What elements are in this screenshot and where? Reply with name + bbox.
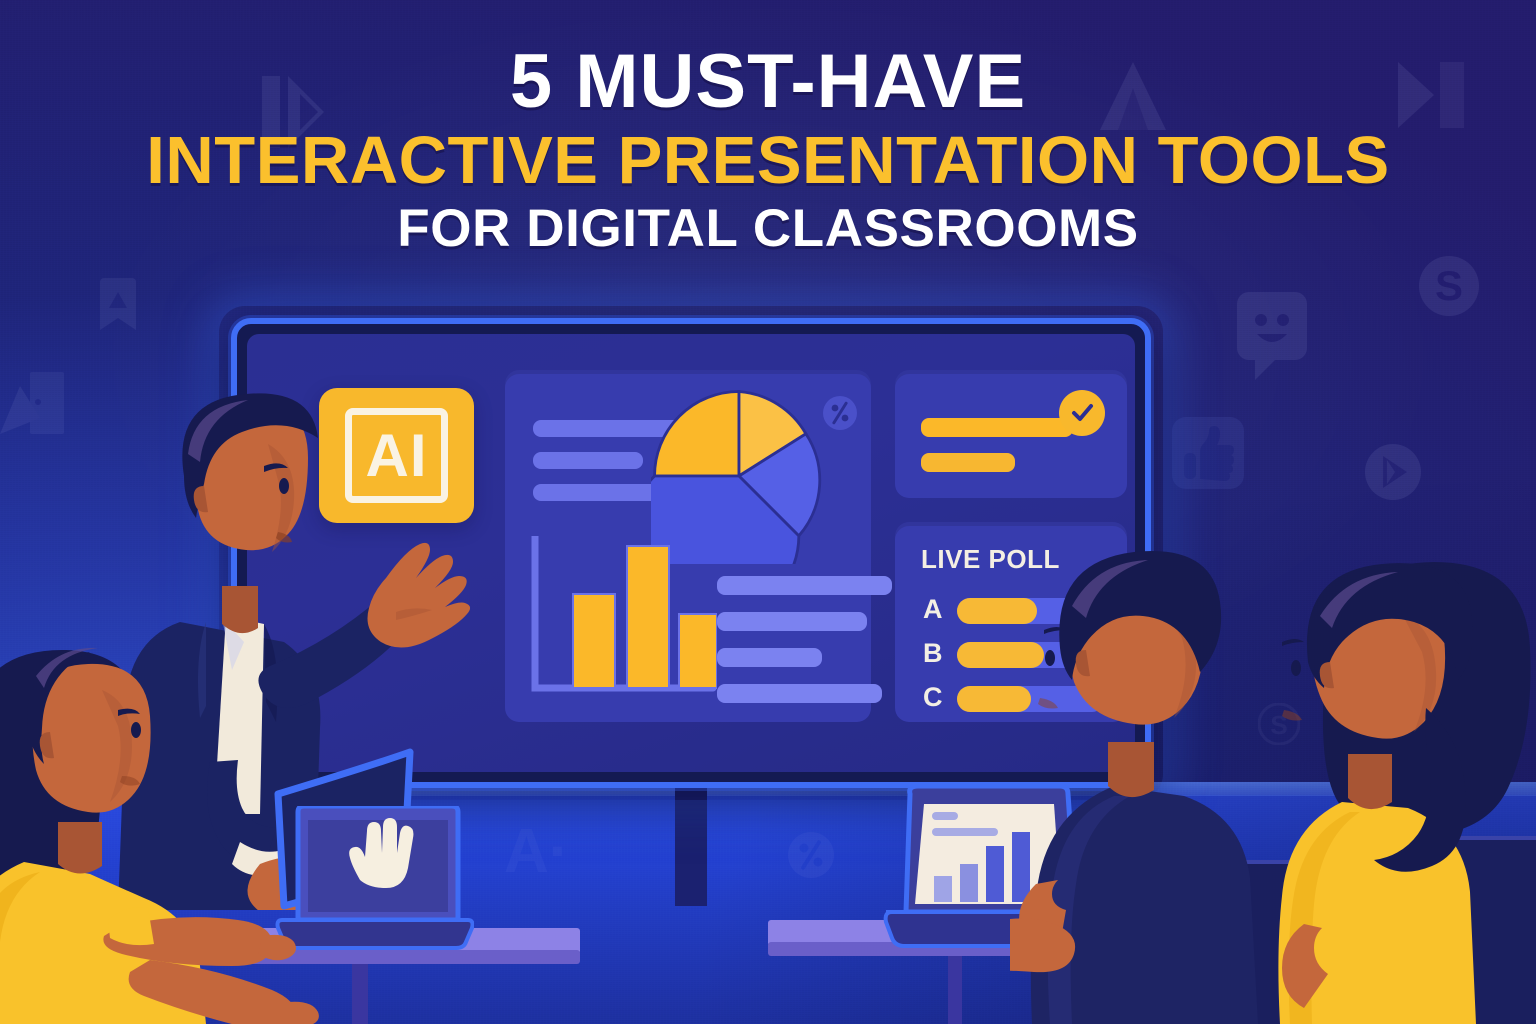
analytics-paragraph-line-4 <box>717 684 882 703</box>
screen-bar-chart[interactable] <box>527 536 717 701</box>
headline-line-2: INTERACTIVE PRESENTATION TOOLS <box>0 127 1536 194</box>
banner-canvas: S S A 010 A· 5 MUST-HAVE INTERACTIVE PRE… <box>0 0 1536 1024</box>
tv-stand <box>675 788 707 906</box>
student-front-left <box>0 640 360 1024</box>
analytics-paragraph-line-1 <box>717 576 892 595</box>
poll-option-letter-b: B <box>923 638 943 669</box>
percent-icon <box>823 396 857 430</box>
approved-line-1 <box>921 418 1073 437</box>
poll-option-letter-a: A <box>923 594 943 625</box>
headline-line-1: 5 MUST-HAVE <box>0 46 1536 119</box>
headline-line-3: FOR DIGITAL CLASSROOMS <box>0 202 1536 255</box>
analytics-text-line-2 <box>533 452 643 469</box>
analytics-paragraph-line-2 <box>717 612 867 631</box>
poll-option-letter-c: C <box>923 682 943 713</box>
desk-right-leg <box>948 952 962 1024</box>
approved-panel[interactable] <box>895 370 1127 498</box>
check-circle-icon[interactable] <box>1059 390 1105 436</box>
student-right-male <box>1010 548 1340 1024</box>
headline-block: 5 MUST-HAVE INTERACTIVE PRESENTATION TOO… <box>0 46 1536 255</box>
analytics-paragraph-line-3 <box>717 648 822 667</box>
analytics-panel[interactable] <box>505 370 871 722</box>
approved-line-2 <box>921 453 1015 472</box>
